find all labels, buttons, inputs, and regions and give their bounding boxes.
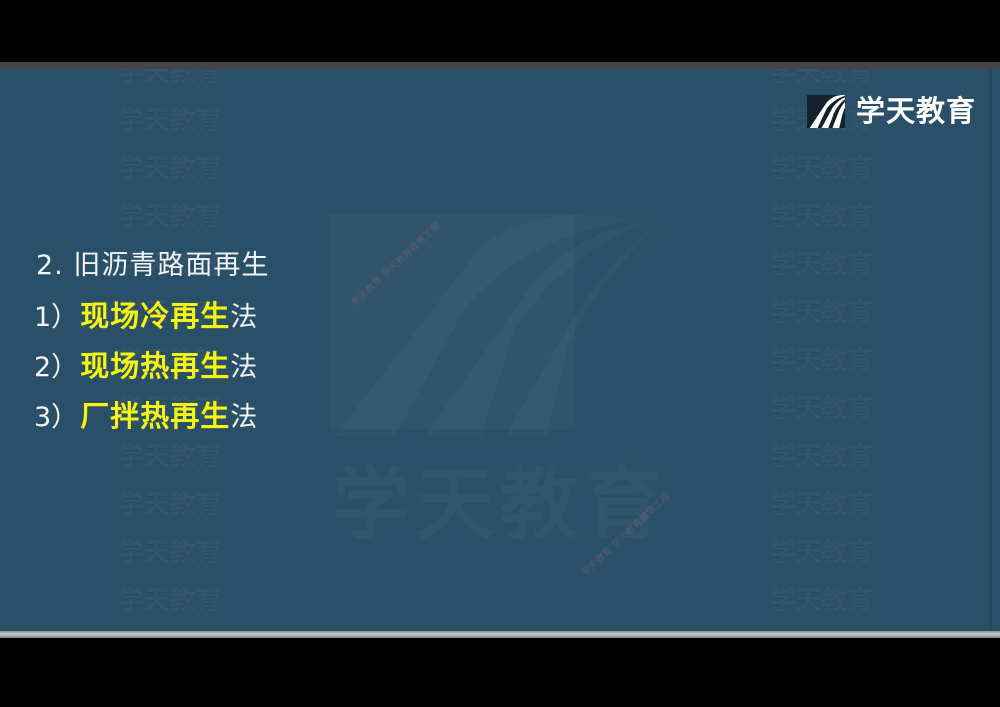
list-item: 3） 厂拌热再生 法 xyxy=(34,393,258,443)
watermark-text: 学天教育 xyxy=(770,529,874,577)
watermark-text: 学天教育 xyxy=(770,193,874,241)
video-player-stage: 学天教育 学天教育 学天教育 学天教育 学天教育 学天教育 学天教育 学天教育 … xyxy=(0,0,1000,707)
watermark-column-right: 学天教育 学天教育 学天教育 学天教育 学天教育 学天教育 学天教育 学天教育 … xyxy=(770,69,874,631)
watermark-text: 学天教育 xyxy=(118,69,222,97)
list-item-highlight: 现场热再生 xyxy=(80,343,230,385)
road-swoosh-icon xyxy=(330,214,620,429)
watermark-text: 学天教育 xyxy=(118,193,222,241)
watermark-text: 学天教育 xyxy=(770,289,874,337)
watermark-text: 学天教育 xyxy=(118,577,222,625)
list-item-highlight: 现场冷再生 xyxy=(80,293,230,335)
watermark-text: 学天教育 xyxy=(770,481,874,529)
watermark-text: 学天教育 xyxy=(770,241,874,289)
brand-name: 学天教育 xyxy=(856,97,976,126)
slide-top-edge xyxy=(0,62,1000,69)
watermark-text: 学天教育 xyxy=(118,97,222,145)
letterbox-bottom-bar xyxy=(0,638,1000,707)
list-item-number: 3） xyxy=(34,395,78,434)
list-item: 2） 现场热再生 法 xyxy=(34,343,258,393)
watermark-text: 学天教育 xyxy=(118,145,222,193)
slide-canvas: 学天教育 学天教育 学天教育 学天教育 学天教育 学天教育 学天教育 学天教育 … xyxy=(0,69,1000,631)
diagonal-watermark: 学天教育 学天教育建筑工程 xyxy=(578,489,673,579)
watermark-text: 学天教育 xyxy=(118,481,222,529)
watermark-text: 学天教育 xyxy=(770,577,874,625)
road-swoosh-icon xyxy=(807,95,845,128)
watermark-text: 学天教育 xyxy=(770,145,874,193)
watermark-text: 学天教育 xyxy=(770,433,874,481)
list-item-number: 2） xyxy=(34,345,78,384)
watermark-text: 学天教育 xyxy=(770,337,874,385)
center-watermark-text: 学天教育 xyxy=(285,442,715,554)
slide-bottom-edge xyxy=(0,631,1000,638)
slide-heading: 2. 旧沥青路面再生 xyxy=(36,243,269,282)
list-item-tail: 法 xyxy=(230,295,258,334)
center-logo-watermark: 学天教育 xyxy=(285,214,715,544)
list-item-tail: 法 xyxy=(230,345,258,384)
watermark-text: 学天教育 xyxy=(770,385,874,433)
list-item-number: 1） xyxy=(34,295,78,334)
watermark-text: 学天教育 xyxy=(118,529,222,577)
slide-right-seam xyxy=(989,69,992,631)
letterbox-top-bar xyxy=(0,0,1000,62)
brand-logo: 学天教育 xyxy=(807,92,976,130)
list-item-tail: 法 xyxy=(230,395,258,434)
slide-list: 1） 现场冷再生 法 2） 现场热再生 法 3） 厂拌热再生 法 xyxy=(34,293,258,443)
diagonal-watermark: 学天教育 学天教育建筑工程 xyxy=(348,219,443,309)
list-item-highlight: 厂拌热再生 xyxy=(80,393,230,435)
list-item: 1） 现场冷再生 法 xyxy=(34,293,258,343)
